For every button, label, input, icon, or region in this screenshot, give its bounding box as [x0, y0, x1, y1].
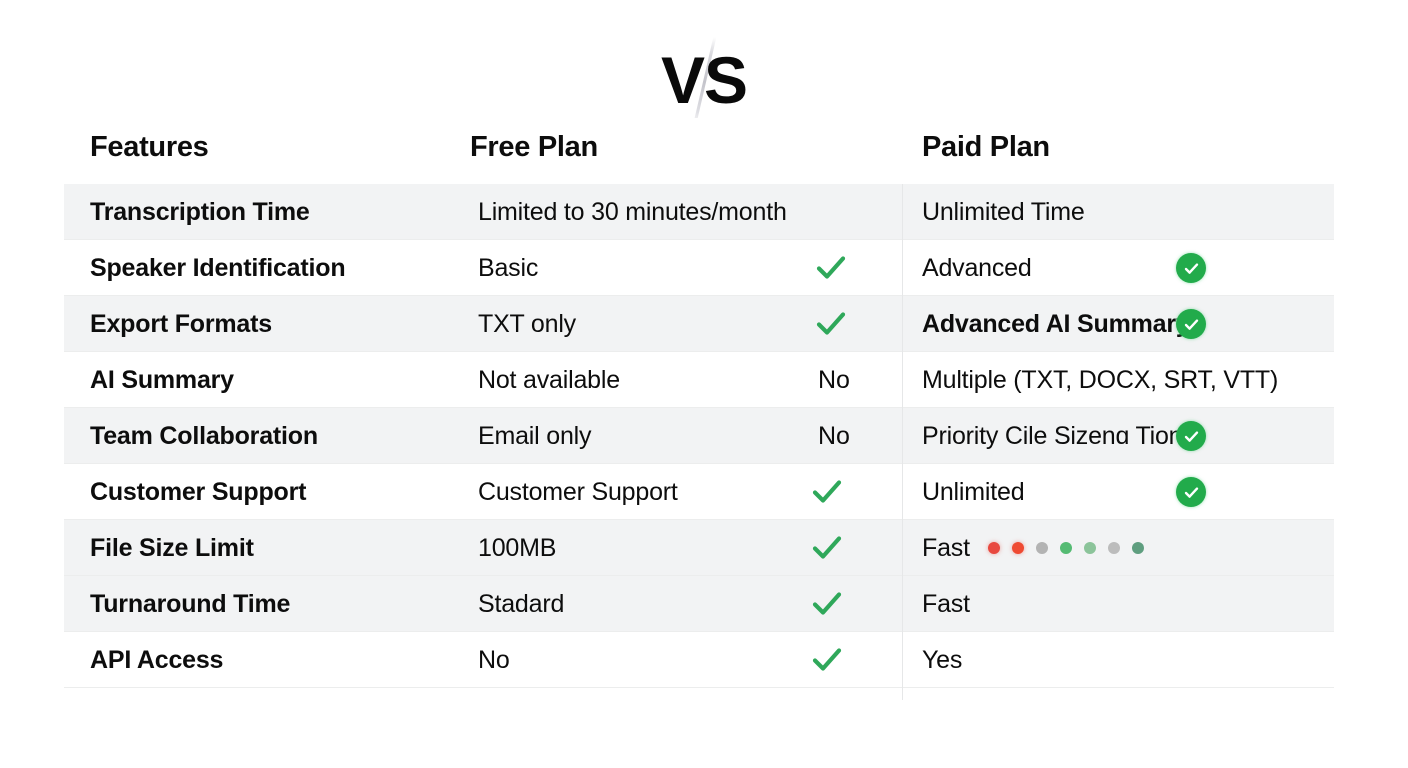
paid-plan-cell: Advanced AI Summary — [902, 310, 1334, 339]
paid-plan-value: Multiple (TXT, DOCX, SRT, VTT) — [922, 366, 1278, 395]
feature-label: Export Formats — [90, 310, 272, 338]
paid-plan-value: Unlimited Time — [922, 198, 1085, 227]
feature-cell: API Access — [64, 646, 470, 675]
vs-badge: VS — [0, 34, 1408, 126]
paid-plan-cell: Priority Cile Sizenɑ Tion — [902, 422, 1334, 451]
free-plan-cell: Email onlyNo — [470, 422, 902, 451]
feature-cell: Speaker Identification — [64, 254, 470, 283]
feature-cell: Team Collaboration — [64, 422, 470, 451]
table-row: Team CollaborationEmail onlyNoPriority C… — [64, 408, 1334, 464]
table-body: Transcription TimeLimited to 30 minutes/… — [64, 184, 1334, 688]
table-row: File Size Limit100MBFast — [64, 520, 1334, 576]
status-dot — [1060, 542, 1072, 554]
status-dot — [1108, 542, 1120, 554]
paid-plan-cell: Fast — [902, 590, 1334, 619]
table-row: API AccessNoYes — [64, 632, 1334, 688]
free-plan-value: Limited to 30 minutes/month — [470, 198, 787, 227]
feature-label: Turnaround Time — [90, 590, 290, 618]
checkmark-icon — [810, 587, 844, 621]
feature-cell: Turnaround Time — [64, 590, 470, 619]
free-plan-value: Basic — [470, 254, 538, 283]
status-dots — [988, 542, 1144, 554]
feature-label: File Size Limit — [90, 534, 254, 562]
free-plan-value: No — [470, 646, 510, 675]
paid-plan-value: Advanced — [922, 254, 1032, 283]
comparison-page: VS Features Free Plan Paid Plan Transcri… — [0, 0, 1408, 768]
feature-cell: Transcription Time — [64, 198, 470, 227]
checkmark-icon — [810, 531, 844, 565]
free-plan-value: Customer Support — [470, 478, 678, 507]
free-plan-cell: Stadard — [470, 590, 902, 619]
no-label: No — [818, 422, 850, 451]
paid-plan-cell: Unlimited Time — [902, 198, 1334, 227]
checkmark-icon — [814, 251, 848, 285]
feature-label: Team Collaboration — [90, 422, 318, 450]
free-plan-cell: Basic — [470, 254, 902, 283]
status-dot — [1132, 542, 1144, 554]
free-plan-cell: TXT only — [470, 310, 902, 339]
free-plan-value: Not available — [470, 366, 620, 395]
free-plan-value: Email only — [470, 422, 591, 451]
paid-plan-value: Unlimited — [922, 478, 1024, 507]
paid-plan-value: Fast — [922, 534, 970, 563]
table-header-row: Features Free Plan Paid Plan — [64, 118, 1334, 176]
column-header-paid-plan: Paid Plan — [902, 131, 1334, 164]
feature-cell: File Size Limit — [64, 534, 470, 563]
feature-cell: Customer Support — [64, 478, 470, 507]
status-dot — [1084, 542, 1096, 554]
table-row: Speaker IdentificationBasicAdvanced — [64, 240, 1334, 296]
feature-label: Transcription Time — [90, 198, 310, 226]
paid-plan-value: Fast — [922, 590, 970, 619]
paid-plan-cell: Unlimited — [902, 478, 1334, 507]
table-row: Customer SupportCustomer SupportUnlimite… — [64, 464, 1334, 520]
paid-plan-value: Priority Cile Sizenɑ Tion — [922, 422, 1182, 451]
feature-cell: AI Summary — [64, 366, 470, 395]
checkmark-icon — [810, 643, 844, 677]
free-plan-cell: Customer Support — [470, 478, 902, 507]
no-label: No — [818, 366, 850, 395]
column-divider — [902, 184, 903, 700]
feature-label: API Access — [90, 646, 223, 674]
paid-plan-value: Advanced AI Summary — [922, 310, 1190, 339]
table-row: AI SummaryNot availableNoMultiple (TXT, … — [64, 352, 1334, 408]
paid-plan-value: Yes — [922, 646, 962, 675]
free-plan-value: Stadard — [470, 590, 564, 619]
column-header-features: Features — [64, 131, 470, 164]
feature-cell: Export Formats — [64, 310, 470, 339]
comparison-table: Features Free Plan Paid Plan Transcripti… — [64, 118, 1334, 688]
feature-label: Customer Support — [90, 478, 306, 506]
free-plan-cell: Limited to 30 minutes/month — [470, 198, 902, 227]
free-plan-cell: No — [470, 646, 902, 675]
check-circle-icon — [1176, 421, 1206, 451]
table-row: Transcription TimeLimited to 30 minutes/… — [64, 184, 1334, 240]
table-row: Export FormatsTXT onlyAdvanced AI Summar… — [64, 296, 1334, 352]
check-circle-icon — [1176, 477, 1206, 507]
checkmark-icon — [810, 475, 844, 509]
paid-plan-cell: Multiple (TXT, DOCX, SRT, VTT) — [902, 366, 1334, 395]
vs-label: VS — [0, 34, 1408, 126]
table-row: Turnaround TimeStadardFast — [64, 576, 1334, 632]
check-circle-icon — [1176, 253, 1206, 283]
check-circle-icon — [1176, 309, 1206, 339]
paid-plan-cell: Fast — [902, 534, 1334, 563]
status-dot — [1036, 542, 1048, 554]
checkmark-icon — [814, 307, 848, 341]
status-dot — [1012, 542, 1024, 554]
status-dot — [988, 542, 1000, 554]
free-plan-cell: Not availableNo — [470, 366, 902, 395]
free-plan-value: TXT only — [470, 310, 576, 339]
column-header-free-plan: Free Plan — [470, 131, 902, 164]
feature-label: Speaker Identification — [90, 254, 345, 282]
paid-plan-cell: Yes — [902, 646, 1334, 675]
paid-plan-cell: Advanced — [902, 254, 1334, 283]
feature-label: AI Summary — [90, 366, 234, 394]
free-plan-cell: 100MB — [470, 534, 902, 563]
free-plan-value: 100MB — [470, 534, 556, 563]
